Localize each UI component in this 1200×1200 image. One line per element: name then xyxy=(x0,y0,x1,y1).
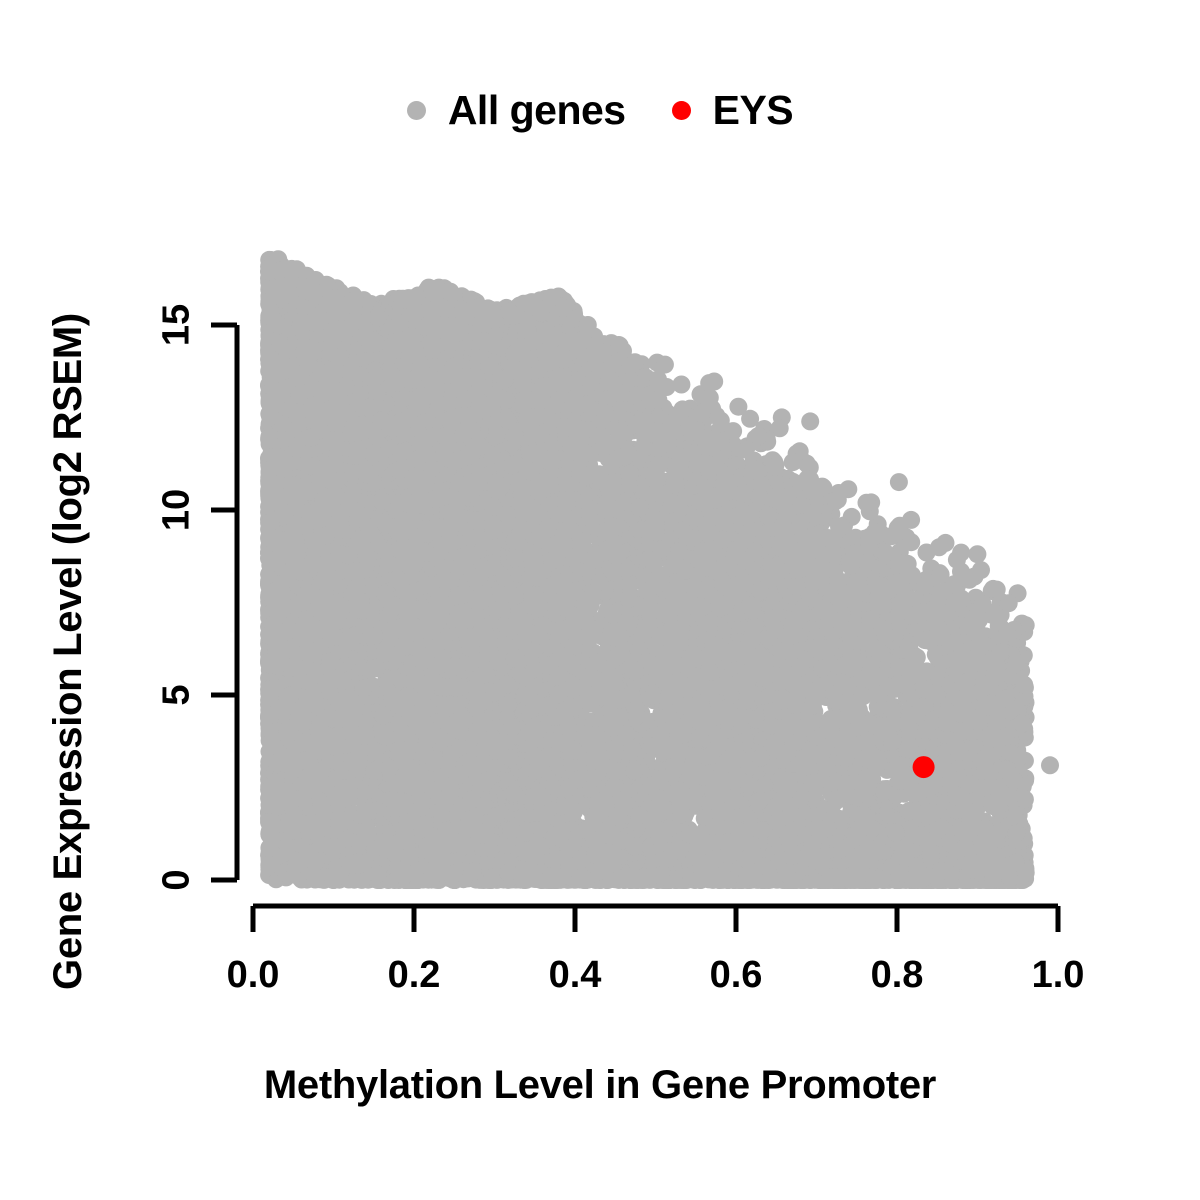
y-tick-label: 10 xyxy=(156,489,199,531)
x-tick-label: 0.2 xyxy=(388,954,441,997)
eys-data-point xyxy=(913,756,935,778)
y-tick-label: 0 xyxy=(156,869,199,890)
scatter-plot-figure: All genes EYS 0.00.20.40.60.81.0 051015 … xyxy=(0,0,1200,1200)
y-tick-label: 5 xyxy=(156,684,199,705)
x-axis-title: Methylation Level in Gene Promoter xyxy=(0,1063,1200,1108)
y-tick-label: 15 xyxy=(156,304,199,346)
plot-area: 0.00.20.40.60.81.0 051015 xyxy=(0,0,1200,1200)
x-tick-label: 0.6 xyxy=(710,954,763,997)
highlight-points-layer xyxy=(913,756,935,778)
scatter-canvas xyxy=(0,0,1200,1200)
data-points-layer xyxy=(260,250,1059,889)
x-tick-label: 0.0 xyxy=(227,954,280,997)
x-tick-label: 0.4 xyxy=(549,954,602,997)
x-tick-label: 0.8 xyxy=(871,954,924,997)
x-tick-label: 1.0 xyxy=(1032,954,1085,997)
